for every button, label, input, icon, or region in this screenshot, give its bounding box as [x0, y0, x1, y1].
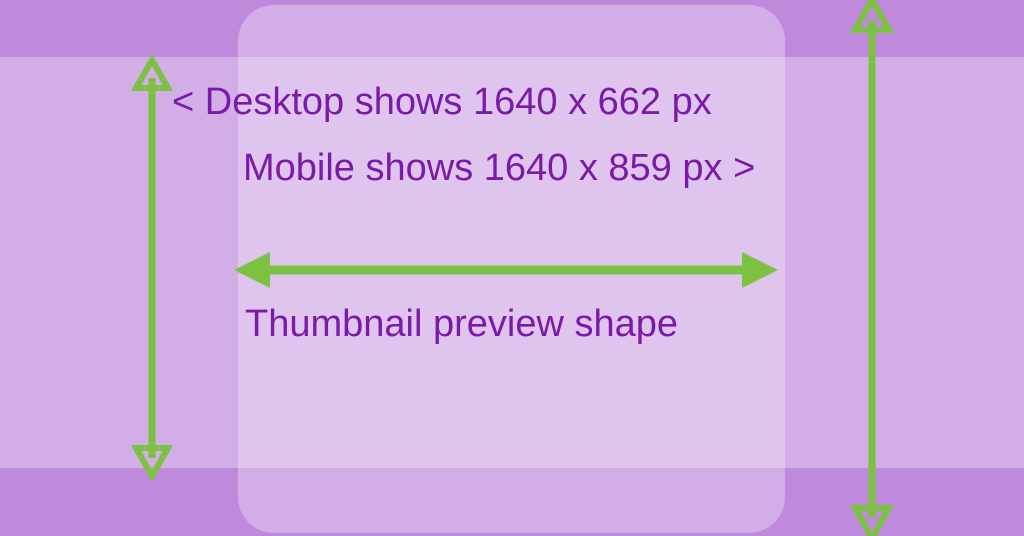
- thumbnail-crop-diagram: < Desktop shows 1640 x 662 px Mobile sho…: [0, 0, 1024, 536]
- desktop-dimension-label: < Desktop shows 1640 x 662 px: [172, 83, 712, 121]
- mobile-dimension-label: Mobile shows 1640 x 859 px >: [243, 149, 755, 187]
- thumbnail-shape-label: Thumbnail preview shape: [245, 305, 678, 343]
- annotation-text-layer: < Desktop shows 1640 x 662 px Mobile sho…: [0, 0, 1024, 536]
